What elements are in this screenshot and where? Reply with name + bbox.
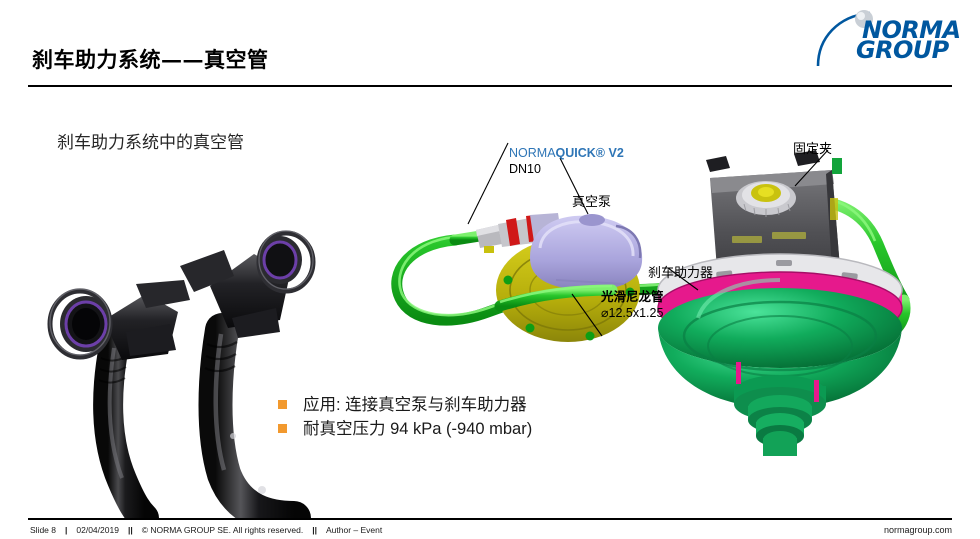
footer-slide-number: Slide 8 <box>30 525 56 535</box>
label-brand-bold: QUICK® V2 <box>556 146 624 160</box>
bullet-square-icon <box>278 400 287 409</box>
footer-author: Author – Event <box>326 525 382 535</box>
label-quick-connector: NORMAQUICK® V2 DN10 <box>509 146 624 177</box>
bullet-list: 应用: 连接真空泵与刹车助力器 耐真空压力 94 kPa (-940 mbar) <box>278 394 708 442</box>
footer-copyright: © NORMA GROUP SE. All rights reserved. <box>142 525 304 535</box>
label-nylon-tube-name: 光滑尼龙管 <box>601 290 664 306</box>
footer-separator-2: || <box>119 525 142 535</box>
footer-separator-3: || <box>303 525 326 535</box>
hose-left <box>50 280 190 518</box>
header-divider <box>28 85 952 87</box>
list-item: 应用: 连接真空泵与刹车助力器 <box>278 394 708 416</box>
footer-website: normagroup.com <box>884 525 952 535</box>
label-connector-size: DN10 <box>509 162 624 178</box>
label-nylon-tube-spec: ⌀12.5x1.25 <box>601 306 664 322</box>
page-title: 刹车助力系统——真空管 <box>32 44 269 74</box>
label-nylon-tube: 光滑尼龙管 ⌀12.5x1.25 <box>601 290 664 321</box>
footer-meta: Slide 8 | 02/04/2019 || © NORMA GROUP SE… <box>30 525 382 535</box>
bullet-square-icon <box>278 424 287 433</box>
label-fixing-clip: 固定夹 <box>793 141 832 157</box>
norma-group-logo: NORMA GROUP <box>812 8 970 68</box>
hose-right <box>180 231 313 518</box>
section-subtitle: 刹车助力系统中的真空管 <box>57 128 244 153</box>
bullet-text: 应用: 连接真空泵与刹车助力器 <box>303 394 527 416</box>
label-brand-plain: NORMA <box>509 146 556 160</box>
slide-canvas: NORMA GROUP 刹车助力系统——真空管 刹车助力系统中的真空管 <box>0 0 980 539</box>
list-item: 耐真空压力 94 kPa (-940 mbar) <box>278 418 708 440</box>
bullet-text: 耐真空压力 94 kPa (-940 mbar) <box>303 418 532 440</box>
label-brake-booster: 刹车助力器 <box>648 265 713 281</box>
logo-line-2: GROUP <box>856 36 950 64</box>
footer-date: 02/04/2019 <box>76 525 119 535</box>
product-photo-hoses <box>18 228 348 518</box>
footer-divider <box>28 518 952 520</box>
footer-separator-1: | <box>56 525 76 535</box>
label-vacuum-pump: 真空泵 <box>572 194 611 210</box>
